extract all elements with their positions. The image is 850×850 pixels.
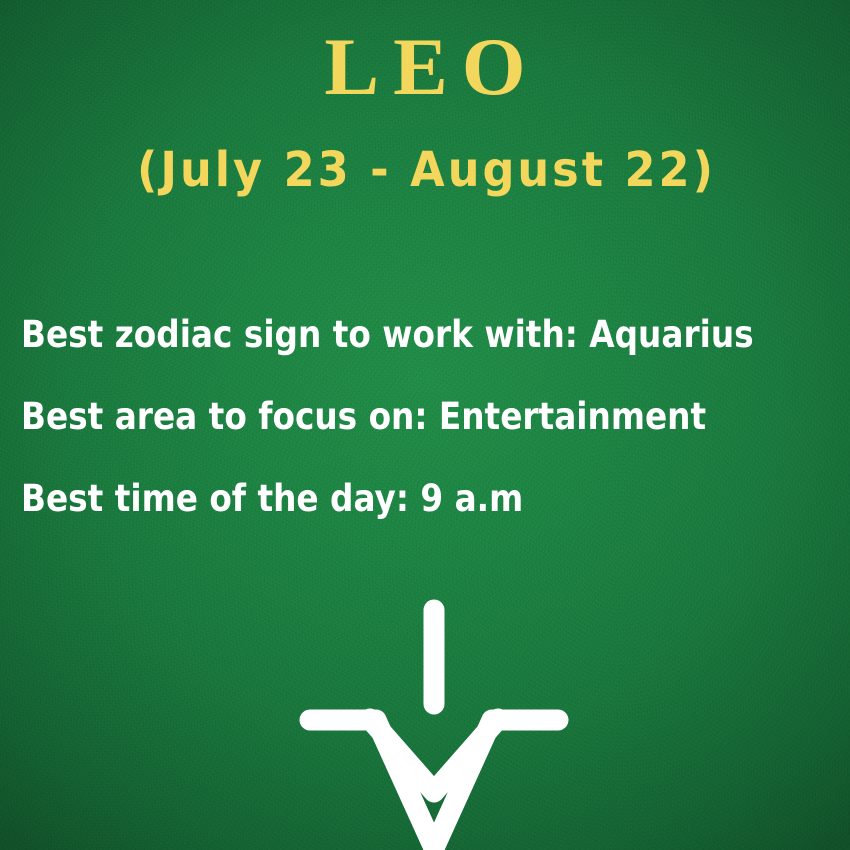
page-title: LEO — [0, 26, 850, 108]
card-content: LEO (July 23 - August 22) Best zodiac si… — [0, 0, 850, 850]
details-list: Best zodiac sign to work with: Aquarius … — [21, 294, 850, 540]
chevron-arrow-logo-icon — [298, 592, 570, 850]
detail-line-zodiac-partner: Best zodiac sign to work with: Aquarius — [21, 294, 755, 376]
detail-line-best-time: Best time of the day: 9 a.m — [21, 458, 755, 540]
date-range-subtitle: (July 23 - August 22) — [30, 140, 821, 200]
zodiac-card: LEO (July 23 - August 22) Best zodiac si… — [0, 0, 850, 850]
detail-line-focus-area: Best area to focus on: Entertainment — [21, 376, 755, 458]
brand-logo — [298, 592, 570, 850]
logo-inner-chevron — [370, 719, 498, 792]
